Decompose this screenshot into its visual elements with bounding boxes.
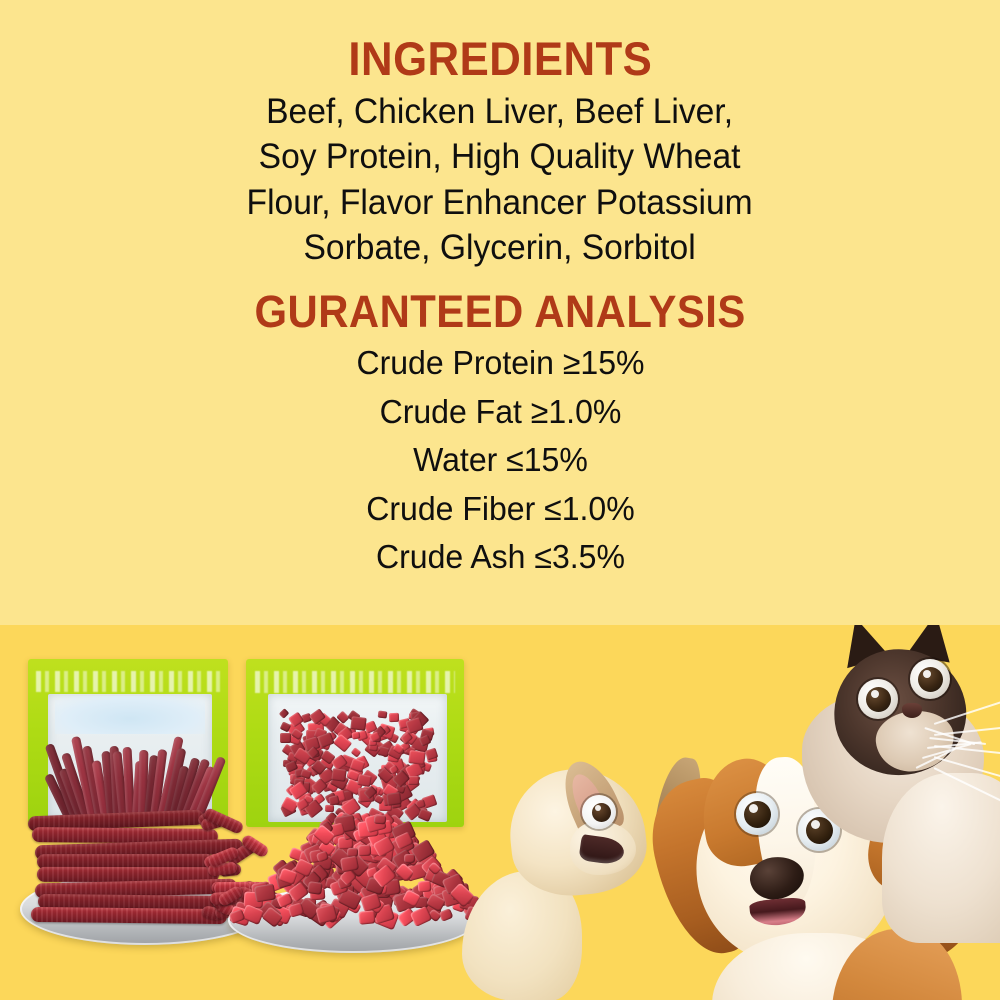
ingredients-line: Flour, Flavor Enhancer Potassium — [247, 180, 753, 225]
nutrition-text-panel: INGREDIENTS Beef, Chicken Liver, Beef Li… — [0, 0, 1000, 625]
package-sticks — [58, 726, 206, 816]
meat-cube — [279, 708, 289, 718]
cat-pupil — [918, 667, 943, 692]
meat-cubes-package — [246, 659, 464, 827]
himalayan-cat — [818, 625, 1000, 953]
package-window — [268, 694, 447, 822]
meat-cube — [373, 815, 385, 825]
cat-body — [882, 773, 1000, 943]
analysis-row: Water ≤15% — [356, 436, 644, 485]
analysis-row: Crude Fat ≥1.0% — [356, 388, 644, 437]
ingredients-line: Soy Protein, High Quality Wheat — [247, 134, 753, 179]
guaranteed-analysis-list: Crude Protein ≥15% Crude Fat ≥1.0% Water… — [352, 339, 649, 582]
analysis-row: Crude Ash ≤3.5% — [356, 533, 644, 582]
meat-cube — [404, 854, 415, 863]
meat-cube — [357, 774, 371, 787]
meat-sticks-package — [28, 659, 228, 824]
meat-cube — [378, 711, 387, 719]
meat-cube — [358, 844, 372, 855]
meat-cube — [417, 880, 431, 892]
stacked-meat-sticks — [28, 813, 258, 923]
meat-cube — [408, 750, 425, 765]
meat-cube — [332, 768, 348, 782]
dog-pupil — [592, 803, 611, 822]
ingredients-line: Beef, Chicken Liver, Beef Liver, — [247, 89, 753, 134]
meat-cube — [408, 776, 419, 785]
product-info-graphic: INGREDIENTS Beef, Chicken Liver, Beef Li… — [0, 0, 1000, 1000]
puppy-pupil — [744, 801, 771, 828]
analysis-row: Crude Fiber ≤1.0% — [356, 485, 644, 534]
package-cubes — [280, 710, 437, 820]
package-label-text — [255, 671, 456, 693]
guaranteed-analysis-heading: GURANTEED ANALYSIS — [254, 288, 745, 335]
meat-cube — [307, 881, 323, 894]
meat-cube — [340, 855, 359, 872]
analysis-row: Crude Protein ≥15% — [356, 339, 644, 388]
package-label-text — [36, 671, 220, 692]
meat-cube — [359, 910, 376, 925]
meat-cube — [386, 792, 401, 806]
piled-meat-cubes — [238, 807, 470, 919]
product-photo-panel — [0, 625, 1000, 1000]
package-window — [48, 694, 212, 819]
cat-pupil — [866, 687, 891, 712]
ingredients-heading: INGREDIENTS — [348, 34, 652, 83]
meat-cube — [280, 733, 291, 743]
ingredients-line: Sorbate, Glycerin, Sorbitol — [247, 225, 753, 270]
ingredients-list: Beef, Chicken Liver, Beef Liver, Soy Pro… — [236, 89, 763, 270]
meat-cube — [350, 716, 367, 731]
meat-stick — [31, 907, 227, 924]
